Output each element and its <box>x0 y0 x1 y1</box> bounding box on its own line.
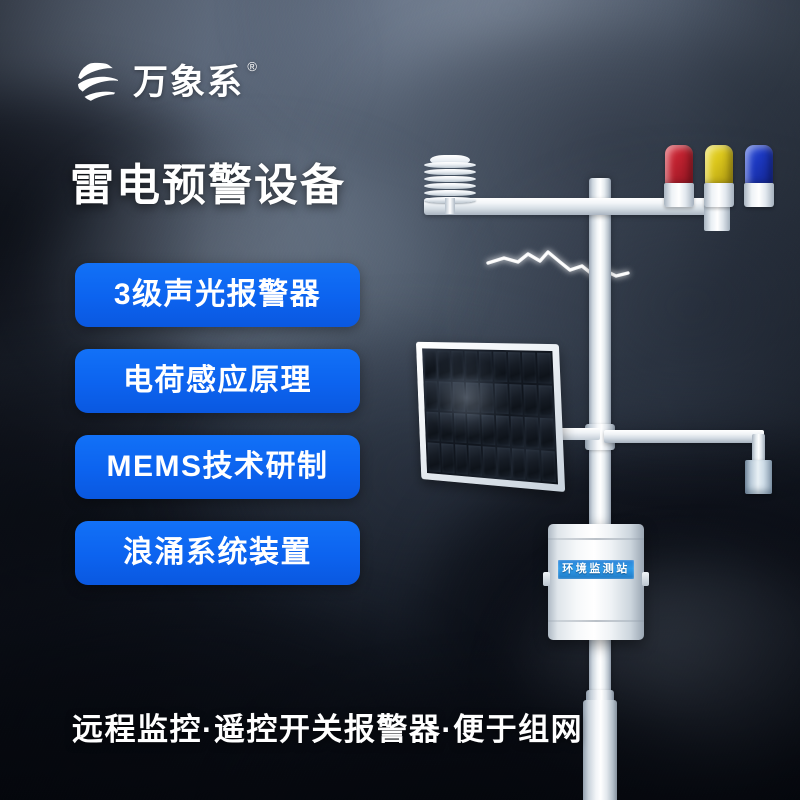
page-title: 雷电预警设备 <box>70 164 346 208</box>
feature-pill[interactable]: 浪涌系统装置 <box>75 521 360 585</box>
poster-canvas: 环境监测站 万象系 ® 雷电预警设备 <box>0 0 800 800</box>
poster-content: 万象系 ® 雷电预警设备 3级声光报警器 电荷感应原理 MEMS技术研制 浪涌系… <box>0 0 800 800</box>
registered-trademark-mark: ® <box>247 60 259 73</box>
circular-swoosh-logo-icon <box>74 58 122 106</box>
feature-pill-label: MEMS技术研制 <box>107 452 329 482</box>
feature-pill[interactable]: MEMS技术研制 <box>75 435 360 499</box>
feature-pill[interactable]: 电荷感应原理 <box>75 349 360 413</box>
feature-pill-label: 3级声光报警器 <box>114 280 321 310</box>
brand-lockup: 万象系 ® <box>74 58 244 106</box>
footer-tagline: 远程监控·遥控开关报警器·便于组网 <box>72 714 583 745</box>
feature-pill[interactable]: 3级声光报警器 <box>75 263 360 327</box>
feature-pill-label: 浪涌系统装置 <box>123 538 312 568</box>
brand-name-wrapper: 万象系 ® <box>133 65 244 100</box>
feature-pill-label: 电荷感应原理 <box>123 366 312 396</box>
feature-list: 3级声光报警器 电荷感应原理 MEMS技术研制 浪涌系统装置 <box>75 263 360 585</box>
brand-name-text: 万象系 <box>133 63 244 102</box>
